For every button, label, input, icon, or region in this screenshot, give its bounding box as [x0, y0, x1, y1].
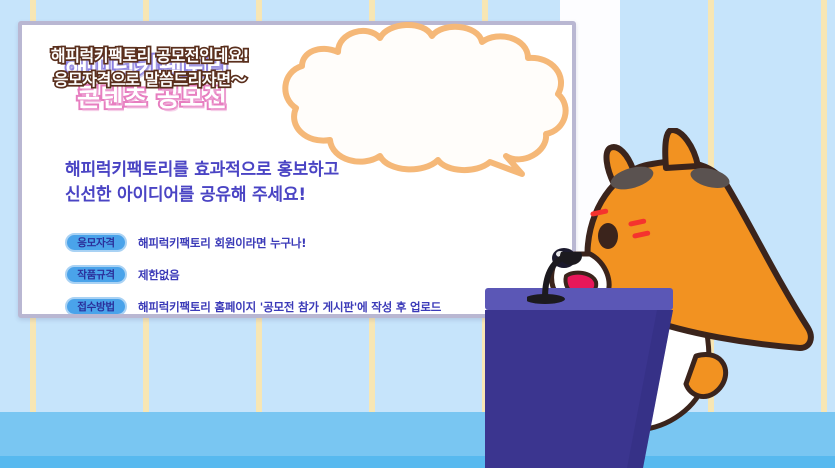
- subtitle-line-2: 신선한 아이디어를 공유해 주세요!: [65, 183, 339, 208]
- speaking-podium: [485, 288, 673, 468]
- whiteboard: 해피럭키팩토리 콘텐츠 공모전 해피럭키팩토리를 효과적으로 홍보하고 신선한 …: [18, 21, 576, 318]
- title-line-1: 해피럭키팩토리: [65, 53, 230, 83]
- status-badge: 접수방법: [65, 297, 127, 316]
- info-value: 해피럭키팩토리 홈페이지 '공모전 참가 게시판'에 작성 후 업로드: [138, 299, 441, 315]
- info-row: 작품규격 제한없음: [65, 265, 441, 284]
- info-row: 응모자격 해피럭키팩토리 회원이라면 누구나!: [65, 233, 441, 252]
- info-row: 접수방법 해피럭키팩토리 홈페이지 '공모전 참가 게시판'에 작성 후 업로드: [65, 297, 441, 316]
- board-subtitle: 해피럭키팩토리를 효과적으로 홍보하고 신선한 아이디어를 공유해 주세요!: [65, 158, 339, 207]
- title-line-2: 콘텐츠 공모전: [77, 83, 230, 113]
- info-value: 해피럭키팩토리 회원이라면 누구나!: [138, 235, 306, 251]
- subtitle-line-1: 해피럭키팩토리를 효과적으로 홍보하고: [65, 158, 339, 183]
- board-title: 해피럭키팩토리 콘텐츠 공모전: [65, 53, 230, 112]
- info-value: 제한없음: [138, 267, 180, 283]
- status-badge: 작품규격: [65, 265, 127, 284]
- status-badge: 응모자격: [65, 233, 127, 252]
- slide-stage: 해피럭키팩토리 콘텐츠 공모전 해피럭키팩토리를 효과적으로 홍보하고 신선한 …: [0, 0, 835, 468]
- info-list: 응모자격 해피럭키팩토리 회원이라면 누구나! 작품규격 제한없음 접수방법 해…: [65, 233, 441, 316]
- microphone: [527, 252, 597, 304]
